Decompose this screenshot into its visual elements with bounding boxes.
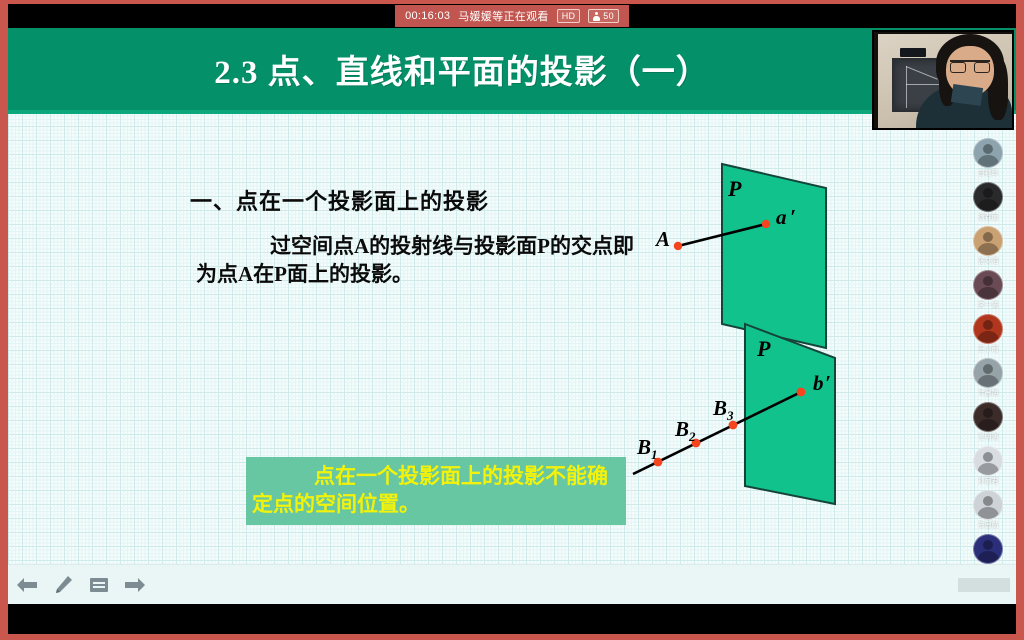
status-bar-content: 00:16:03 马媛媛等正在观看 HD 50 [395,5,629,27]
avatar[interactable] [973,226,1003,256]
point-label-b2: B 2 [674,417,696,444]
diagram-line-point-ambiguity: P B 1 B 2 B 3 [623,314,883,534]
avatar[interactable] [973,358,1003,388]
live-class-window: 00:16:03 马媛媛等正在观看 HD 50 2.3 点、直线和平面的投影（一… [0,0,1024,640]
prev-page-button[interactable] [14,572,40,598]
plane-label-p-bottom: P [756,336,771,361]
point-label-b-prime: b ′ [813,371,831,395]
elapsed-time: 00:16:03 [405,10,450,22]
board-clip [900,48,926,57]
arrow-right-icon [125,578,145,592]
participant-name: 李一诺 [978,300,999,311]
arrow-left-icon [17,578,37,592]
status-bar: 00:16:03 马媛媛等正在观看 HD 50 [8,4,1016,28]
participant-name: 白艳玲 [978,168,999,179]
viewer-count-badge: 50 [588,9,619,23]
participant-name: 陈思航 [978,520,999,531]
point-label-a-prime: a ′ [776,205,796,229]
prime-mark: ′ [790,205,796,229]
point-marker-b-prime [797,388,806,397]
plane-label-p-top: P [727,176,742,201]
point-marker-a [674,242,682,250]
section-heading: 一、点在一个投影面上的投影 [190,184,489,216]
callout-box: 点在一个投影面上的投影不能确定点的空间位置。 [246,457,626,525]
watchers-text: 马媛媛等正在观看 [458,8,548,24]
callout-text: 点在一个投影面上的投影不能确定点的空间位置。 [246,463,626,518]
body-paragraph: 过空间点A的投射线与投影面P的交点即为点A在P面上的投影。 [196,232,636,289]
participants-rail[interactable]: 白艳玲 杨春丽 张文浩 李一诺 [960,132,1016,568]
avatar[interactable] [973,270,1003,300]
slide-stage[interactable]: 2.3 点、直线和平面的投影（一） [8,28,1016,604]
list-item[interactable]: 杨春丽 [973,182,1003,223]
glasses-icon [950,60,990,70]
participant-name: 叶晨旭 [978,388,999,399]
pencil-icon [56,576,72,593]
list-item[interactable]: 李一诺 [973,270,1003,311]
list-item[interactable]: 陈思航 [973,490,1003,531]
list-item[interactable]: 孙丽君 [973,446,1003,487]
participant-name: 杨春丽 [978,212,999,223]
webcam-video [874,32,1012,128]
toolbar-right-chip[interactable] [958,578,1010,592]
list-item[interactable]: 王小雨 [973,314,1003,355]
list-item[interactable]: 叶晨旭 [973,358,1003,399]
avatar[interactable] [973,534,1003,564]
svg-text:B: B [712,396,727,420]
avatar[interactable] [973,314,1003,344]
chalk-line [906,66,938,80]
quality-badge[interactable]: HD [557,9,581,23]
prime-mark: ′ [825,371,831,395]
avatar[interactable] [973,402,1003,432]
point-label-b3: B 3 [712,396,734,423]
list-item[interactable]: 张文浩 [973,226,1003,267]
participant-name: 张文浩 [978,256,999,267]
list-item[interactable]: 白艳玲 [973,138,1003,179]
notes-icon [90,578,108,592]
avatar[interactable] [973,182,1003,212]
avatar[interactable] [973,446,1003,476]
pen-tool-button[interactable] [50,572,76,598]
page-title: 2.3 点、直线和平面的投影（一） [214,45,810,93]
participant-name: 江明涛 [978,432,999,443]
bottom-black-bar [8,604,1016,634]
avatar[interactable] [973,490,1003,520]
viewer-count-value: 50 [603,10,614,22]
participant-name: 孙丽君 [978,476,999,487]
svg-text:3: 3 [726,408,734,423]
avatar[interactable] [973,138,1003,168]
slide-content: 一、点在一个投影面上的投影 过空间点A的投射线与投影面P的交点即为点A在P面上的… [8,114,1016,604]
list-item[interactable]: 江明涛 [973,402,1003,443]
svg-text:B: B [674,417,689,441]
svg-text:2: 2 [688,429,696,444]
svg-text:a: a [776,205,787,229]
point-marker-a-prime [762,220,770,228]
slide-title-band: 2.3 点、直线和平面的投影（一） [8,28,1016,110]
point-label-a: A [654,227,670,251]
point-label-b1: B 1 [636,435,658,462]
slide-toolbar[interactable] [8,564,1016,604]
svg-text:B: B [636,435,651,459]
participant-name: 王小雨 [978,344,999,355]
notes-button[interactable] [86,572,112,598]
svg-text:1: 1 [651,447,658,462]
teacher-webcam-tile[interactable] [872,30,1014,130]
list-item[interactable]: 李雨涵 [973,534,1003,568]
chalk-line [906,66,907,108]
person-icon [593,12,600,21]
svg-text:b: b [813,371,824,395]
next-page-button[interactable] [122,572,148,598]
